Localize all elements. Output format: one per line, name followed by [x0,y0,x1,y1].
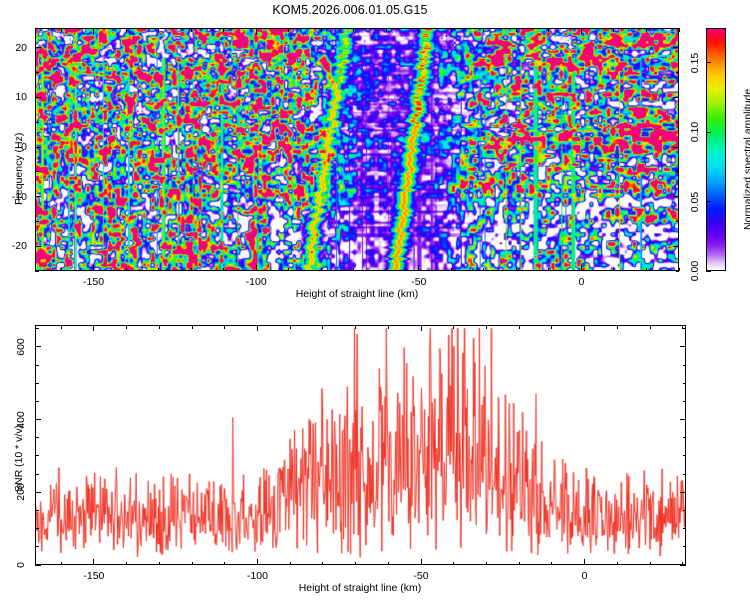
colorbar-tick-label: 0.00 [689,261,701,281]
spectrogram-ytick-label: 20 [0,42,27,54]
spectrogram-image [36,29,678,270]
colorbar-tick [706,271,711,272]
spectrogram-ytick [676,271,680,272]
snr-ytick [680,565,686,566]
snr-panel [35,325,686,565]
snr-ytick [35,565,41,566]
spectrogram-xtick [679,268,680,272]
snr-yaxis-label: SNR (10 * v/v) [13,425,25,492]
snr-xtick-label: -100 [247,570,268,582]
page-title: KOM5.2026.006.01.05.G15 [0,3,700,17]
snr-ytick-label: 600 [15,338,27,356]
snr-xtick-label: 0 [582,570,588,582]
spectrogram-ytick-label: -20 [0,240,27,252]
snr-ytick-label: 0 [15,562,27,568]
snr-xaxis-label: Height of straight line (km) [299,582,422,594]
spectrogram-xtick-label: -100 [246,276,267,288]
colorbar-label: Normalized spectral amplitude [742,89,750,230]
spectrogram-xtick-label: -50 [411,276,426,288]
spectrogram-ytick-label: 10 [0,91,27,103]
spectrogram-xtick-label: -150 [83,276,104,288]
spectrogram-xtick-label: 0 [579,276,585,288]
spectrogram-yaxis-label: Frequency (Hz) [13,133,25,205]
colorbar [706,28,726,271]
spectrogram-ytick [35,271,39,272]
colorbar-tick-label: 0.05 [689,191,701,211]
snr-xtick-label: -50 [413,570,428,582]
spectrogram-xaxis-label: Height of straight line (km) [296,288,419,300]
spectrogram-panel [35,28,679,271]
snr-xtick-label: -150 [83,570,104,582]
colorbar-tick-label: 0.15 [689,52,701,72]
figure-root: KOM5.2026.006.01.05.G15 -150-100-500-20-… [0,0,750,600]
colorbar-tick-label: 0.10 [689,122,701,142]
spectrogram-xtick [679,28,680,32]
snr-trace [36,326,685,564]
